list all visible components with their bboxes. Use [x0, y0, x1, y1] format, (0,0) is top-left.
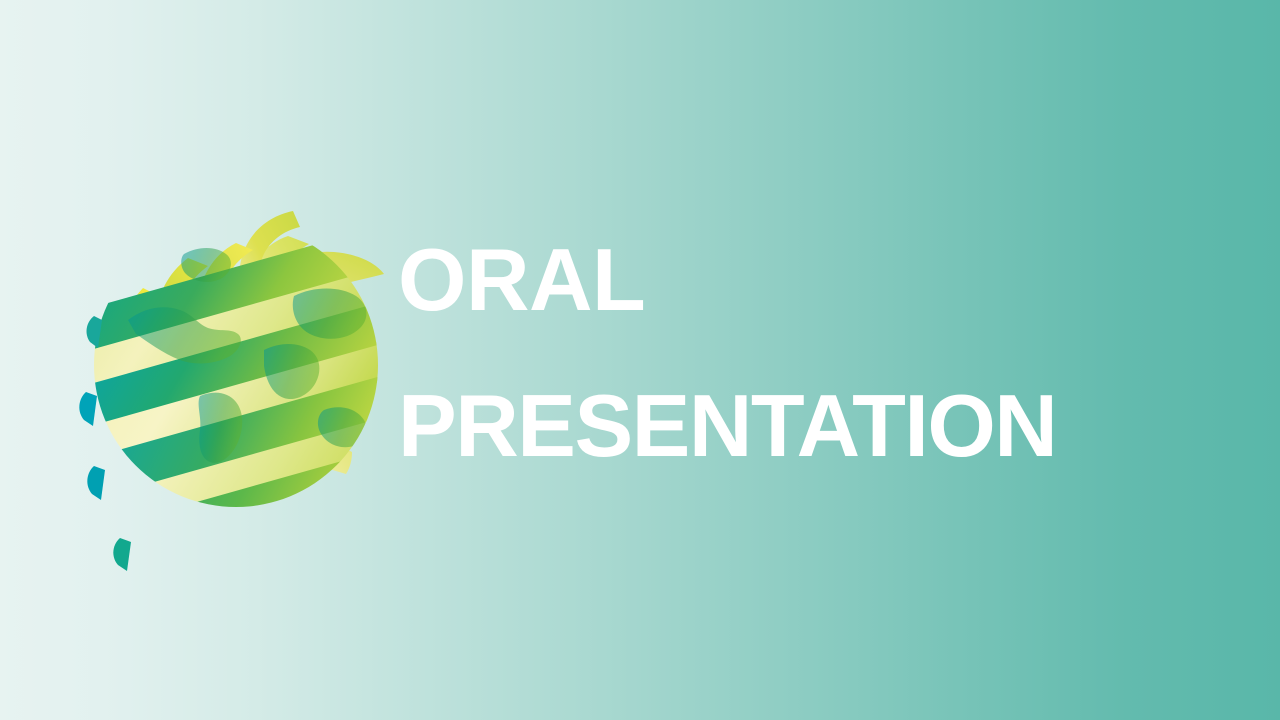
globe-leaf-logo [88, 200, 388, 520]
page-title-line-1: ORAL [398, 236, 1238, 324]
globe-leaf-icon [88, 200, 388, 520]
page-title-line-2: PRESENTATION [398, 382, 1238, 470]
title-block: ORAL PRESENTATION [398, 236, 1238, 470]
logo-end-hook-3 [87, 466, 105, 500]
logo-globe-bands [76, 224, 388, 578]
logo-end-hook-4 [113, 538, 131, 571]
logo-end-hook-2 [79, 392, 97, 426]
slide-canvas: ORAL PRESENTATION [0, 0, 1280, 720]
